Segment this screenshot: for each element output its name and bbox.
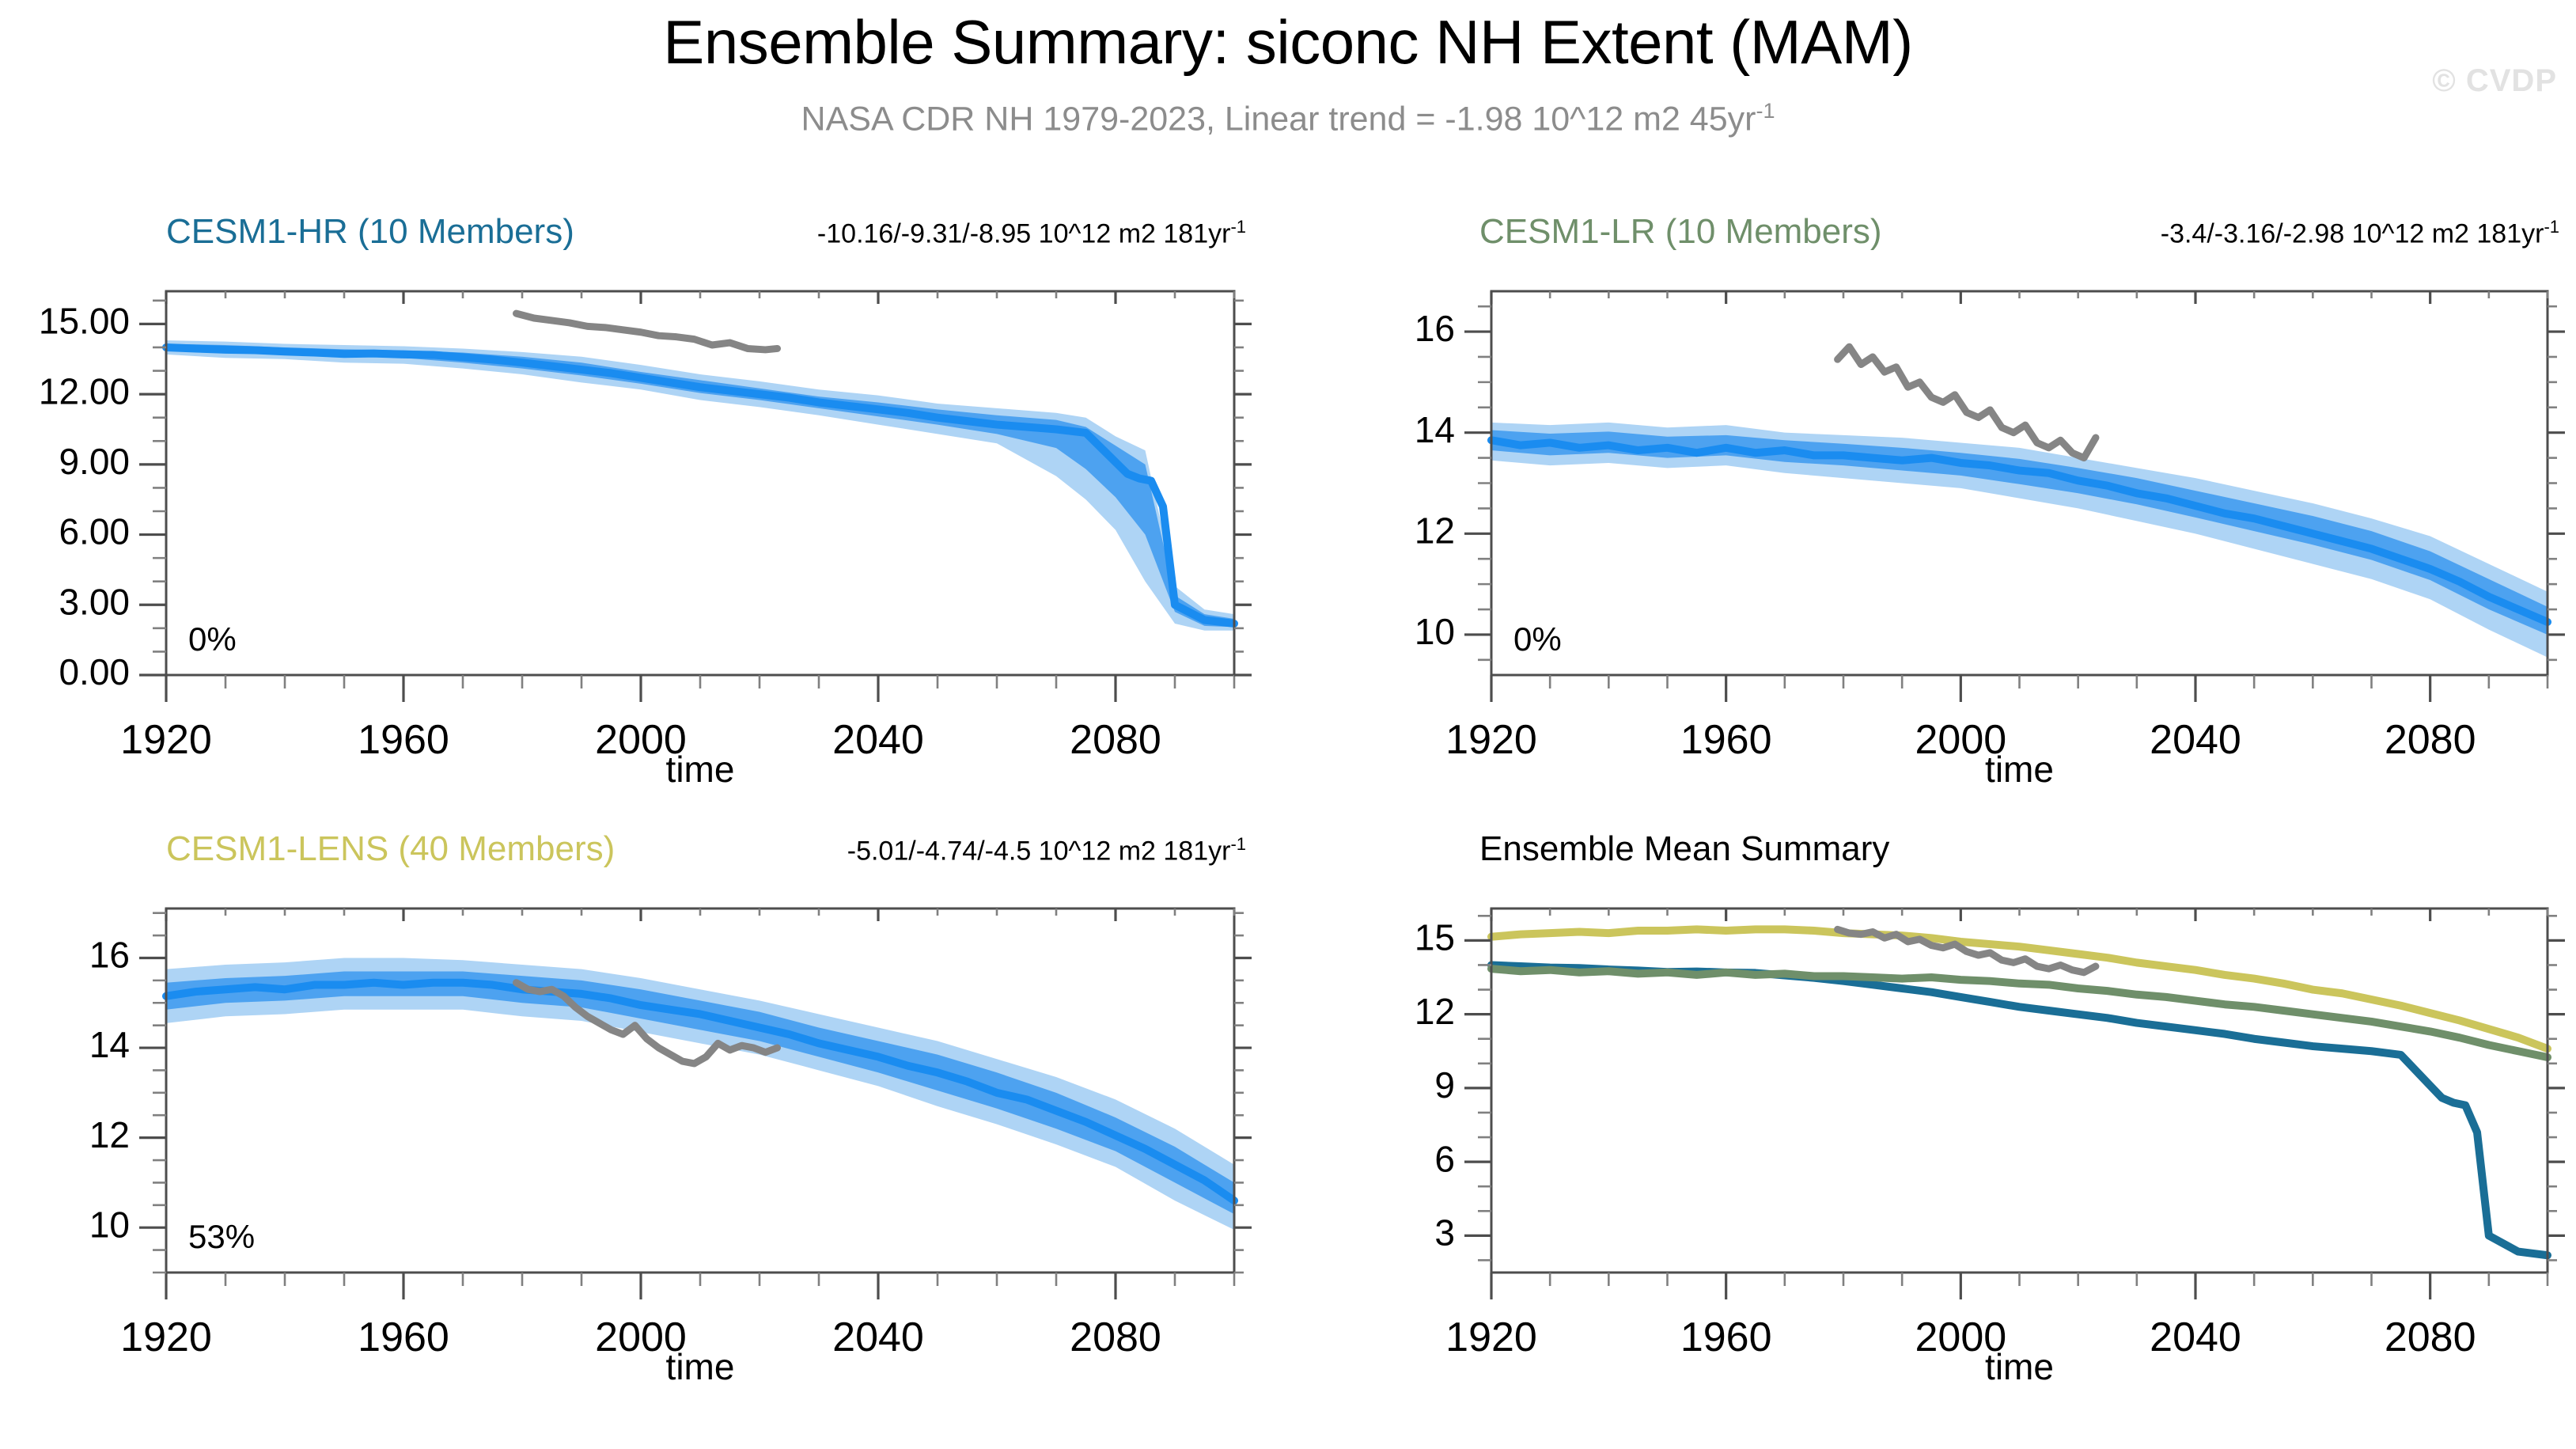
- plot-area-cesm1-lens: 192019602000204020801012141653%: [32, 829, 1266, 1367]
- y-tick-label: 15: [1415, 917, 1455, 958]
- percent-label-cesm1-lens: 53%: [188, 1218, 255, 1255]
- y-tick-label: 15.00: [39, 301, 130, 342]
- y-tick-label: 6.00: [59, 511, 130, 552]
- y-tick-label: 14: [89, 1024, 130, 1065]
- series-line-0-ensemble-mean-summary: [1491, 929, 2548, 1049]
- panel-cesm1-lr: CESM1-LR (10 Members)-3.4/-3.16/-2.98 10…: [1345, 212, 2576, 766]
- x-axis-title-cesm1-hr: time: [166, 748, 1234, 791]
- x-axis-title-ensemble-mean-summary: time: [1491, 1345, 2548, 1388]
- x-axis-title-cesm1-lens: time: [166, 1345, 1234, 1388]
- y-tick-label: 12: [89, 1114, 130, 1155]
- percent-label-cesm1-hr: 0%: [188, 620, 237, 658]
- panel-ensemble-mean-summary: Ensemble Mean Summary1920196020002040208…: [1345, 829, 2576, 1367]
- y-tick-label: 14: [1415, 409, 1455, 450]
- plot-area-cesm1-lr: 19201960200020402080101214160%: [1345, 212, 2576, 766]
- plot-area-ensemble-mean-summary: 192019602000204020803691215: [1345, 829, 2576, 1367]
- plot-area-cesm1-hr: 192019602000204020800.003.006.009.0012.0…: [32, 212, 1266, 766]
- x-axis-title-cesm1-lr: time: [1491, 748, 2548, 791]
- y-tick-label: 0.00: [59, 651, 130, 692]
- y-tick-label: 12: [1415, 991, 1455, 1032]
- y-tick-label: 3: [1434, 1212, 1455, 1254]
- chart-page: Ensemble Summary: siconc NH Extent (MAM)…: [0, 0, 2576, 1449]
- subtitle-superscript: -1: [1756, 99, 1775, 123]
- panel-cesm1-lens: CESM1-LENS (40 Members)-5.01/-4.74/-4.5 …: [32, 829, 1266, 1367]
- y-tick-label: 10: [89, 1204, 130, 1245]
- y-tick-label: 16: [1415, 308, 1455, 349]
- series-line-2-ensemble-mean-summary: [1491, 969, 2548, 1057]
- page-title: Ensemble Summary: siconc NH Extent (MAM): [0, 6, 2576, 78]
- series-line-1-ensemble-mean-summary: [1491, 965, 2548, 1255]
- y-tick-label: 3.00: [59, 581, 130, 622]
- y-tick-label: 12.00: [39, 370, 130, 412]
- y-tick-label: 16: [89, 935, 130, 976]
- percent-label-cesm1-lr: 0%: [1513, 620, 1562, 658]
- y-tick-label: 9: [1434, 1064, 1455, 1106]
- y-tick-label: 9.00: [59, 441, 130, 482]
- subtitle-text: NASA CDR NH 1979-2023, Linear trend = -1…: [801, 100, 1756, 138]
- series-line-1-cesm1-hr: [517, 313, 778, 350]
- panel-cesm1-hr: CESM1-HR (10 Members)-10.16/-9.31/-8.95 …: [32, 212, 1266, 766]
- spread-outer-cesm1-lens: [166, 958, 1234, 1230]
- y-tick-label: 6: [1434, 1138, 1455, 1179]
- y-tick-label: 12: [1415, 510, 1455, 551]
- y-tick-label: 10: [1415, 611, 1455, 652]
- cvdp-watermark: © CVDP: [2432, 63, 2557, 99]
- page-subtitle: NASA CDR NH 1979-2023, Linear trend = -1…: [0, 99, 2576, 138]
